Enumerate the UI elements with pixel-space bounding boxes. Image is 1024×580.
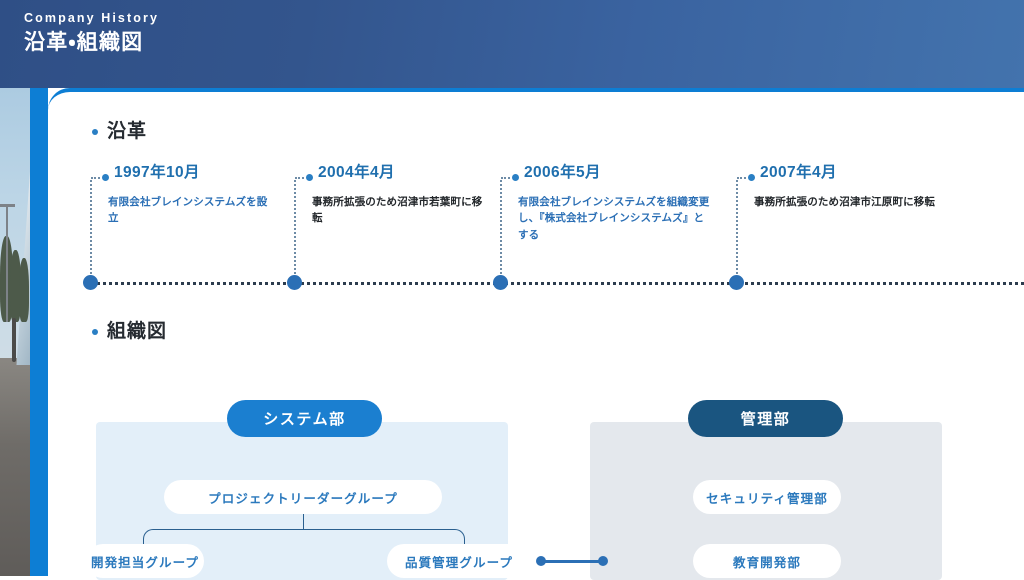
timeline-connector-line bbox=[294, 180, 296, 282]
orgchart-section-heading: 組織図 bbox=[92, 322, 167, 341]
timeline-marker-dot-icon bbox=[748, 174, 755, 181]
timeline-description: 事務所拡張のため沼津市若葉町に移転 bbox=[312, 194, 490, 227]
history-heading-label: 沿革 bbox=[107, 122, 147, 141]
timeline-marker-dot-icon bbox=[512, 174, 519, 181]
timeline-date: 2004年4月 bbox=[318, 164, 395, 183]
photo-tree bbox=[19, 258, 29, 322]
header-eyebrow: Company History bbox=[24, 12, 159, 25]
content-card: 沿革 1997年10月 有限会社ブレインシステムズを設立 2004年4月 事務所… bbox=[48, 88, 1024, 576]
link-bar bbox=[541, 560, 603, 563]
timeline-axis-dot-icon bbox=[493, 275, 508, 290]
bullet-dot-icon bbox=[92, 129, 98, 135]
photo-bollard bbox=[12, 318, 16, 362]
org-node-development-group[interactable]: 開発担当グループ bbox=[86, 544, 204, 578]
org-node-education-development[interactable]: 教育開発部 bbox=[693, 544, 841, 578]
link-knob-right-icon bbox=[598, 556, 608, 566]
timeline-axis-line bbox=[90, 282, 1024, 285]
org-chart: システム部 プロジェクトリーダーグループ 開発担当グループ 品質管理グループ 管… bbox=[48, 422, 1024, 580]
timeline-date: 1997年10月 bbox=[114, 164, 200, 183]
timeline-connector-line bbox=[90, 180, 92, 282]
timeline-marker-dot-icon bbox=[102, 174, 109, 181]
left-accent-bar bbox=[30, 88, 48, 576]
timeline-description: 有限会社ブレインシステムズを組織変更し、『株式会社ブレインシステムズ』とする bbox=[518, 194, 714, 243]
org-connector-vertical bbox=[303, 514, 304, 530]
timeline-date: 2007年4月 bbox=[760, 164, 837, 183]
org-node-project-leader-group[interactable]: プロジェクトリーダーグループ bbox=[164, 480, 442, 514]
timeline-marker-dot-icon bbox=[306, 174, 313, 181]
timeline-description: 事務所拡張のため沼津市江原町に移転 bbox=[754, 194, 998, 210]
timeline-connector-line bbox=[500, 180, 502, 282]
photo-pole bbox=[6, 206, 8, 322]
history-section-heading: 沿革 bbox=[92, 122, 147, 141]
department-header-system[interactable]: システム部 bbox=[227, 400, 382, 437]
timeline-connector-line bbox=[736, 180, 738, 282]
org-node-quality-group[interactable]: 品質管理グループ bbox=[387, 544, 531, 578]
timeline-axis-dot-icon bbox=[83, 275, 98, 290]
orgchart-heading-label: 組織図 bbox=[107, 322, 167, 341]
page-title: 沿革・組織図 bbox=[24, 31, 159, 54]
timeline-date: 2006年5月 bbox=[524, 164, 601, 183]
timeline-axis-dot-icon bbox=[729, 275, 744, 290]
history-timeline: 1997年10月 有限会社ブレインシステムズを設立 2004年4月 事務所拡張の… bbox=[48, 164, 1024, 292]
timeline-axis-dot-icon bbox=[287, 275, 302, 290]
header-title-group: Company History 沿革・組織図 bbox=[24, 12, 159, 54]
timeline-description: 有限会社ブレインシステムズを設立 bbox=[108, 194, 273, 227]
photo-pole bbox=[0, 204, 15, 207]
department-header-management[interactable]: 管理部 bbox=[688, 400, 843, 437]
org-node-security-management[interactable]: セキュリティ管理部 bbox=[693, 480, 841, 514]
page-header: Company History 沿革・組織図 bbox=[0, 0, 1024, 88]
panel-link-connector bbox=[536, 556, 608, 566]
bullet-dot-icon bbox=[92, 329, 98, 335]
